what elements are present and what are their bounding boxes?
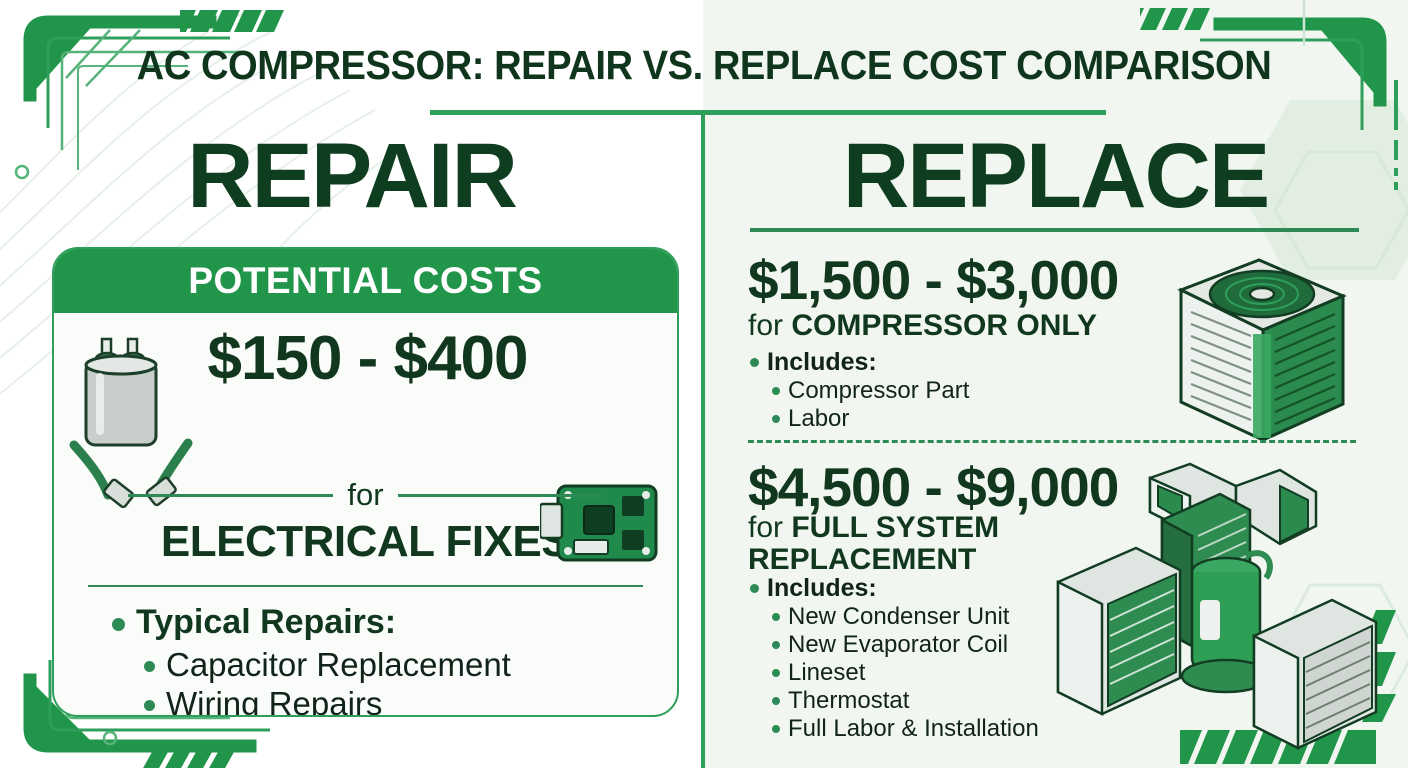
list-item: Wiring Repairs <box>54 685 677 717</box>
card-header: POTENTIAL COSTS <box>54 249 677 313</box>
list-item: Thermostat <box>750 687 1039 715</box>
list-item-label: New Evaporator Coil <box>788 631 1008 659</box>
replace-blocks-dashed-separator <box>748 440 1356 443</box>
rule-left <box>128 494 333 497</box>
for-separator: for <box>54 477 677 513</box>
bullet-dot-icon <box>772 697 780 705</box>
price-row: $150 - $400 <box>54 313 677 391</box>
list-item: Typical Repairs: <box>54 603 677 642</box>
card-body: $150 - $400 for ELECTRICAL FIXES Typical… <box>54 313 677 717</box>
bullet-dot-icon <box>772 725 780 733</box>
for-label: for <box>748 309 783 342</box>
list-title: Typical Repairs: <box>136 603 396 642</box>
list-item-label: Compressor Part <box>788 377 969 405</box>
list-item: Capacitor Replacement <box>54 646 677 684</box>
list-item: Includes: <box>750 348 969 377</box>
list-item: New Evaporator Coil <box>750 631 1039 659</box>
full-system-includes-list: Includes: New Condenser Unit New Evapora… <box>750 574 1039 743</box>
list-item-label: Capacitor Replacement <box>166 646 511 684</box>
list-item: Labor <box>750 405 969 433</box>
repair-heading: REPAIR <box>0 124 703 229</box>
list-item-label: Labor <box>788 405 849 433</box>
subject-label: FULL SYSTEM REPLACEMENT <box>748 511 999 576</box>
bullet-dot-icon <box>772 641 780 649</box>
card-header-label: POTENTIAL COSTS <box>188 260 542 302</box>
for-label: for <box>748 511 783 544</box>
bullet-dot-icon <box>750 584 759 593</box>
list-title: Includes: <box>767 574 877 603</box>
list-item: New Condenser Unit <box>750 603 1039 631</box>
rule-right <box>398 494 603 497</box>
for-label: for <box>347 477 383 513</box>
bullet-dot-icon <box>112 618 125 631</box>
bullet-dot-icon <box>750 358 759 367</box>
bullet-dot-icon <box>772 669 780 677</box>
list-item: Compressor Part <box>750 377 969 405</box>
potential-costs-card: POTENTIAL COSTS <box>52 247 679 717</box>
replace-block1-rule <box>750 228 1359 232</box>
subject-label: COMPRESSOR ONLY <box>791 309 1097 342</box>
card-divider <box>88 585 643 587</box>
infographic-poster: AC COMPRESSOR: REPAIR VS. REPLACE COST C… <box>0 0 1408 768</box>
compressor-only-subject: for COMPRESSOR ONLY <box>748 310 1097 342</box>
hvac-system-components-icon <box>1040 460 1400 760</box>
full-system-subject: for FULL SYSTEM REPLACEMENT <box>748 512 1058 576</box>
bullet-dot-icon <box>144 700 155 711</box>
bullet-dot-icon <box>772 613 780 621</box>
list-item: Full Labor & Installation <box>750 715 1039 743</box>
list-item-label: Full Labor & Installation <box>788 715 1039 743</box>
bullet-dot-icon <box>772 387 780 395</box>
list-item-label: Lineset <box>788 659 865 687</box>
bullet-dot-icon <box>144 661 155 672</box>
compressor-only-price: $1,500 - $3,000 <box>748 248 1118 312</box>
bullet-dot-icon <box>772 415 780 423</box>
list-item-label: Thermostat <box>788 687 909 715</box>
repair-price: $150 - $400 <box>54 323 679 394</box>
list-item-label: Wiring Repairs <box>166 685 382 717</box>
list-title: Includes: <box>767 348 877 377</box>
list-item: Includes: <box>750 574 1039 603</box>
list-item-label: New Condenser Unit <box>788 603 1009 631</box>
corner-hatch-top-left-extra <box>180 8 360 36</box>
page-title: AC COMPRESSOR: REPAIR VS. REPLACE COST C… <box>49 42 1358 89</box>
compressor-only-includes-list: Includes: Compressor Part Labor <box>750 348 969 433</box>
title-underline <box>430 110 1106 115</box>
ac-condenser-unit-icon <box>1163 252 1359 448</box>
list-item: Lineset <box>750 659 1039 687</box>
typical-repairs-list: Typical Repairs: Capacitor Replacement W… <box>54 603 677 717</box>
replace-heading: REPLACE <box>703 124 1408 229</box>
